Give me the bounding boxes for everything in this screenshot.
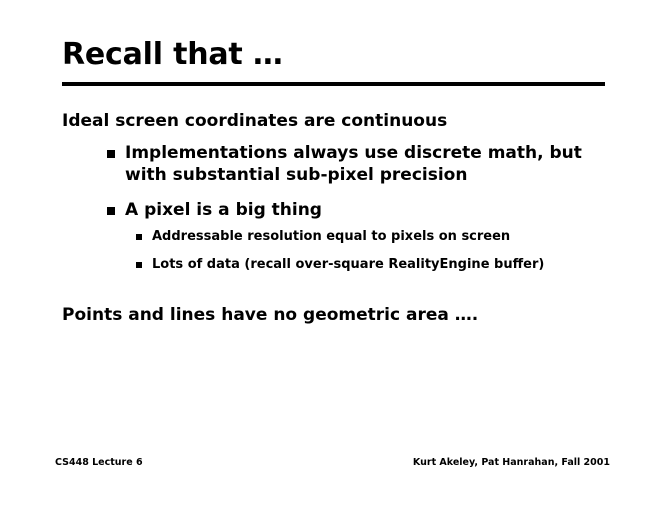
slide-footer: CS448 Lecture 6 Kurt Akeley, Pat Hanraha… xyxy=(55,456,610,472)
body-line-primary: Ideal screen coordinates are continuous xyxy=(62,110,622,132)
list-item: Implementations always use discrete math… xyxy=(62,142,622,186)
page-title: Recall that … xyxy=(62,36,607,74)
list-item: Lots of data (recall over-square Reality… xyxy=(62,256,622,274)
square-bullet-icon xyxy=(136,262,142,268)
body-spacer xyxy=(62,284,622,304)
square-bullet-icon xyxy=(136,234,142,240)
list-item-label: A pixel is a big thing xyxy=(125,199,622,221)
square-bullet-icon xyxy=(107,150,115,158)
body-line-closing: Points and lines have no geometric area … xyxy=(62,304,622,326)
list-item: A pixel is a big thing xyxy=(62,199,622,221)
list-item-label: Implementations always use discrete math… xyxy=(125,142,622,186)
title-divider-rule xyxy=(62,82,605,86)
square-bullet-icon xyxy=(107,207,115,215)
list-item-label: Lots of data (recall over-square Reality… xyxy=(152,256,622,274)
list-item: Addressable resolution equal to pixels o… xyxy=(62,228,622,246)
slide-body: Ideal screen coordinates are continuous … xyxy=(62,110,622,326)
footer-authors-label: Kurt Akeley, Pat Hanrahan, Fall 2001 xyxy=(413,456,610,470)
slide-title-block: Recall that … xyxy=(62,36,607,74)
footer-course-label: CS448 Lecture 6 xyxy=(55,456,143,470)
slide-canvas: Recall that … Ideal screen coordinates a… xyxy=(0,0,660,510)
list-item-label: Addressable resolution equal to pixels o… xyxy=(152,228,622,246)
